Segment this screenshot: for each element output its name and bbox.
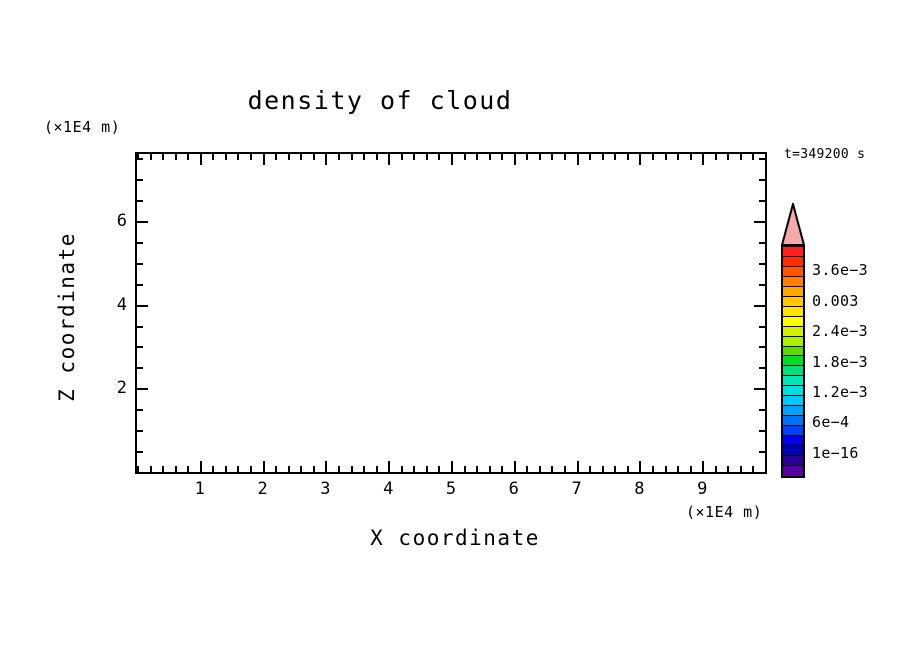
x-minor-tick: [338, 466, 340, 472]
x-minor-tick: [288, 154, 290, 160]
y-minor-tick: [137, 367, 143, 369]
colorbar-band: [783, 376, 803, 386]
y-minor-tick: [759, 430, 765, 432]
colorbar-band: [783, 366, 803, 376]
y-minor-tick: [759, 179, 765, 181]
colorbar-band: [783, 327, 803, 337]
x-minor-tick: [765, 466, 767, 472]
x-minor-tick: [250, 154, 252, 160]
y-minor-tick: [759, 451, 765, 453]
page-title: density of cloud: [0, 86, 760, 115]
x-minor-tick: [338, 154, 340, 160]
y-minor-tick: [137, 326, 143, 328]
x-tick-label: 5: [431, 479, 471, 499]
x-major-tick: [388, 461, 390, 472]
y-minor-tick: [759, 472, 765, 474]
x-minor-tick: [677, 466, 679, 472]
x-minor-tick: [313, 154, 315, 160]
x-minor-tick: [288, 466, 290, 472]
colorbar-label: 1.8e−3: [812, 353, 868, 371]
y-minor-tick: [759, 284, 765, 286]
y-minor-tick: [759, 200, 765, 202]
colorbar: [781, 245, 805, 478]
colorbar-label: 0.003: [812, 292, 859, 310]
x-minor-tick: [351, 466, 353, 472]
x-minor-tick: [300, 466, 302, 472]
colorbar-band: [783, 456, 803, 466]
x-minor-tick: [551, 466, 553, 472]
colorbar-label: 6e−4: [812, 413, 849, 431]
x-minor-tick: [489, 154, 491, 160]
x-minor-tick: [275, 466, 277, 472]
x-major-tick: [388, 154, 390, 165]
x-minor-tick: [413, 466, 415, 472]
x-minor-tick: [551, 154, 553, 160]
x-minor-tick: [501, 154, 503, 160]
y-minor-tick: [137, 263, 143, 265]
x-minor-tick: [489, 466, 491, 472]
x-minor-tick: [715, 154, 717, 160]
y-major-tick: [137, 388, 148, 390]
x-axis-title: X coordinate: [255, 526, 655, 550]
y-tick-label: 6: [87, 211, 127, 231]
x-minor-tick: [727, 154, 729, 160]
x-minor-tick: [426, 154, 428, 160]
x-minor-tick: [150, 466, 152, 472]
x-minor-tick: [363, 154, 365, 160]
x-major-tick: [639, 154, 641, 165]
x-minor-tick: [426, 466, 428, 472]
x-minor-tick: [602, 466, 604, 472]
y-minor-tick: [759, 367, 765, 369]
y-minor-tick: [137, 409, 143, 411]
y-minor-tick: [759, 409, 765, 411]
x-minor-tick: [162, 154, 164, 160]
colorbar-band: [783, 386, 803, 396]
y-minor-tick: [759, 242, 765, 244]
x-major-tick: [514, 154, 516, 165]
x-minor-tick: [740, 466, 742, 472]
x-tick-label: 1: [180, 479, 220, 499]
y-axis-units-label: (×1E4 m): [44, 118, 120, 136]
y-minor-tick: [137, 451, 143, 453]
x-minor-tick: [376, 154, 378, 160]
y-minor-tick: [759, 346, 765, 348]
x-minor-tick: [690, 154, 692, 160]
x-minor-tick: [464, 154, 466, 160]
x-minor-tick: [677, 154, 679, 160]
x-minor-tick: [187, 466, 189, 472]
x-major-tick: [702, 154, 704, 165]
colorbar-band: [783, 317, 803, 327]
x-minor-tick: [589, 154, 591, 160]
y-minor-tick: [137, 200, 143, 202]
x-minor-tick: [740, 154, 742, 160]
colorbar-band: [783, 267, 803, 277]
x-minor-tick: [351, 154, 353, 160]
x-minor-tick: [162, 466, 164, 472]
x-minor-tick: [250, 466, 252, 472]
x-minor-tick: [187, 154, 189, 160]
x-tick-label: 7: [557, 479, 597, 499]
y-tick-label: 4: [87, 295, 127, 315]
x-tick-label: 9: [682, 479, 722, 499]
y-minor-tick: [137, 158, 143, 160]
x-minor-tick: [652, 154, 654, 160]
colorbar-arrow-cap: [781, 203, 805, 246]
x-minor-tick: [237, 154, 239, 160]
x-minor-tick: [476, 154, 478, 160]
x-minor-tick: [665, 154, 667, 160]
x-minor-tick: [438, 154, 440, 160]
colorbar-band: [783, 247, 803, 257]
x-major-tick: [263, 154, 265, 165]
x-minor-tick: [501, 466, 503, 472]
x-major-tick: [577, 154, 579, 165]
y-major-tick: [137, 305, 148, 307]
x-minor-tick: [564, 154, 566, 160]
colorbar-band: [783, 356, 803, 366]
x-minor-tick: [752, 466, 754, 472]
x-major-tick: [702, 461, 704, 472]
x-minor-tick: [652, 466, 654, 472]
x-major-tick: [263, 461, 265, 472]
x-minor-tick: [363, 466, 365, 472]
colorbar-band: [783, 396, 803, 406]
colorbar-band: [783, 337, 803, 347]
x-minor-tick: [175, 466, 177, 472]
x-major-tick: [639, 461, 641, 472]
colorbar-label: 1e−16: [812, 444, 859, 462]
x-minor-tick: [225, 466, 227, 472]
x-major-tick: [577, 461, 579, 472]
plot-frame: [135, 152, 767, 474]
x-minor-tick: [212, 154, 214, 160]
x-minor-tick: [627, 154, 629, 160]
x-minor-tick: [313, 466, 315, 472]
colorbar-band: [783, 406, 803, 416]
x-tick-label: 2: [243, 479, 283, 499]
colorbar-band: [783, 277, 803, 287]
x-major-tick: [200, 461, 202, 472]
y-tick-label: 2: [87, 378, 127, 398]
y-axis-title: Z coordinate: [55, 227, 79, 407]
x-minor-tick: [715, 466, 717, 472]
x-minor-tick: [539, 466, 541, 472]
y-major-tick: [754, 388, 765, 390]
x-minor-tick: [627, 466, 629, 472]
x-major-tick: [514, 461, 516, 472]
x-minor-tick: [665, 466, 667, 472]
x-minor-tick: [212, 466, 214, 472]
x-minor-tick: [300, 154, 302, 160]
x-tick-label: 3: [305, 479, 345, 499]
x-axis-units-label: (×1E4 m): [686, 503, 762, 521]
x-minor-tick: [476, 466, 478, 472]
y-minor-tick: [137, 242, 143, 244]
x-minor-tick: [175, 154, 177, 160]
y-minor-tick: [137, 430, 143, 432]
y-minor-tick: [137, 472, 143, 474]
y-minor-tick: [137, 346, 143, 348]
x-minor-tick: [539, 154, 541, 160]
x-minor-tick: [602, 154, 604, 160]
colorbar-band: [783, 416, 803, 426]
y-minor-tick: [759, 158, 765, 160]
x-minor-tick: [150, 154, 152, 160]
x-minor-tick: [526, 466, 528, 472]
x-minor-tick: [564, 466, 566, 472]
colorbar-band: [783, 257, 803, 267]
x-minor-tick: [401, 466, 403, 472]
x-major-tick: [451, 154, 453, 165]
colorbar-label: 3.6e−3: [812, 261, 868, 279]
y-major-tick: [137, 221, 148, 223]
y-major-tick: [754, 221, 765, 223]
x-minor-tick: [464, 466, 466, 472]
x-minor-tick: [752, 154, 754, 160]
x-minor-tick: [690, 466, 692, 472]
colorbar-band: [783, 347, 803, 357]
colorbar-band: [783, 436, 803, 446]
x-minor-tick: [225, 154, 227, 160]
x-minor-tick: [413, 154, 415, 160]
x-tick-label: 8: [619, 479, 659, 499]
colorbar-band: [783, 297, 803, 307]
colorbar-band: [783, 287, 803, 297]
x-major-tick: [451, 461, 453, 472]
x-minor-tick: [376, 466, 378, 472]
x-minor-tick: [237, 466, 239, 472]
x-tick-label: 6: [494, 479, 534, 499]
x-minor-tick: [614, 154, 616, 160]
x-major-tick: [325, 154, 327, 165]
x-minor-tick: [526, 154, 528, 160]
colorbar-band: [783, 466, 803, 476]
colorbar-label: 2.4e−3: [812, 322, 868, 340]
x-minor-tick: [727, 466, 729, 472]
x-minor-tick: [614, 466, 616, 472]
x-minor-tick: [401, 154, 403, 160]
colorbar-label: 1.2e−3: [812, 383, 868, 401]
y-minor-tick: [137, 284, 143, 286]
x-minor-tick: [275, 154, 277, 160]
y-major-tick: [754, 305, 765, 307]
colorbar-band: [783, 446, 803, 456]
colorbar-band: [783, 307, 803, 317]
timestamp-label: t=349200 s: [784, 147, 865, 162]
x-major-tick: [200, 154, 202, 165]
y-minor-tick: [137, 179, 143, 181]
y-minor-tick: [759, 263, 765, 265]
y-minor-tick: [759, 326, 765, 328]
x-major-tick: [325, 461, 327, 472]
colorbar-band: [783, 426, 803, 436]
x-minor-tick: [589, 466, 591, 472]
x-tick-label: 4: [368, 479, 408, 499]
x-minor-tick: [765, 154, 767, 160]
x-minor-tick: [438, 466, 440, 472]
